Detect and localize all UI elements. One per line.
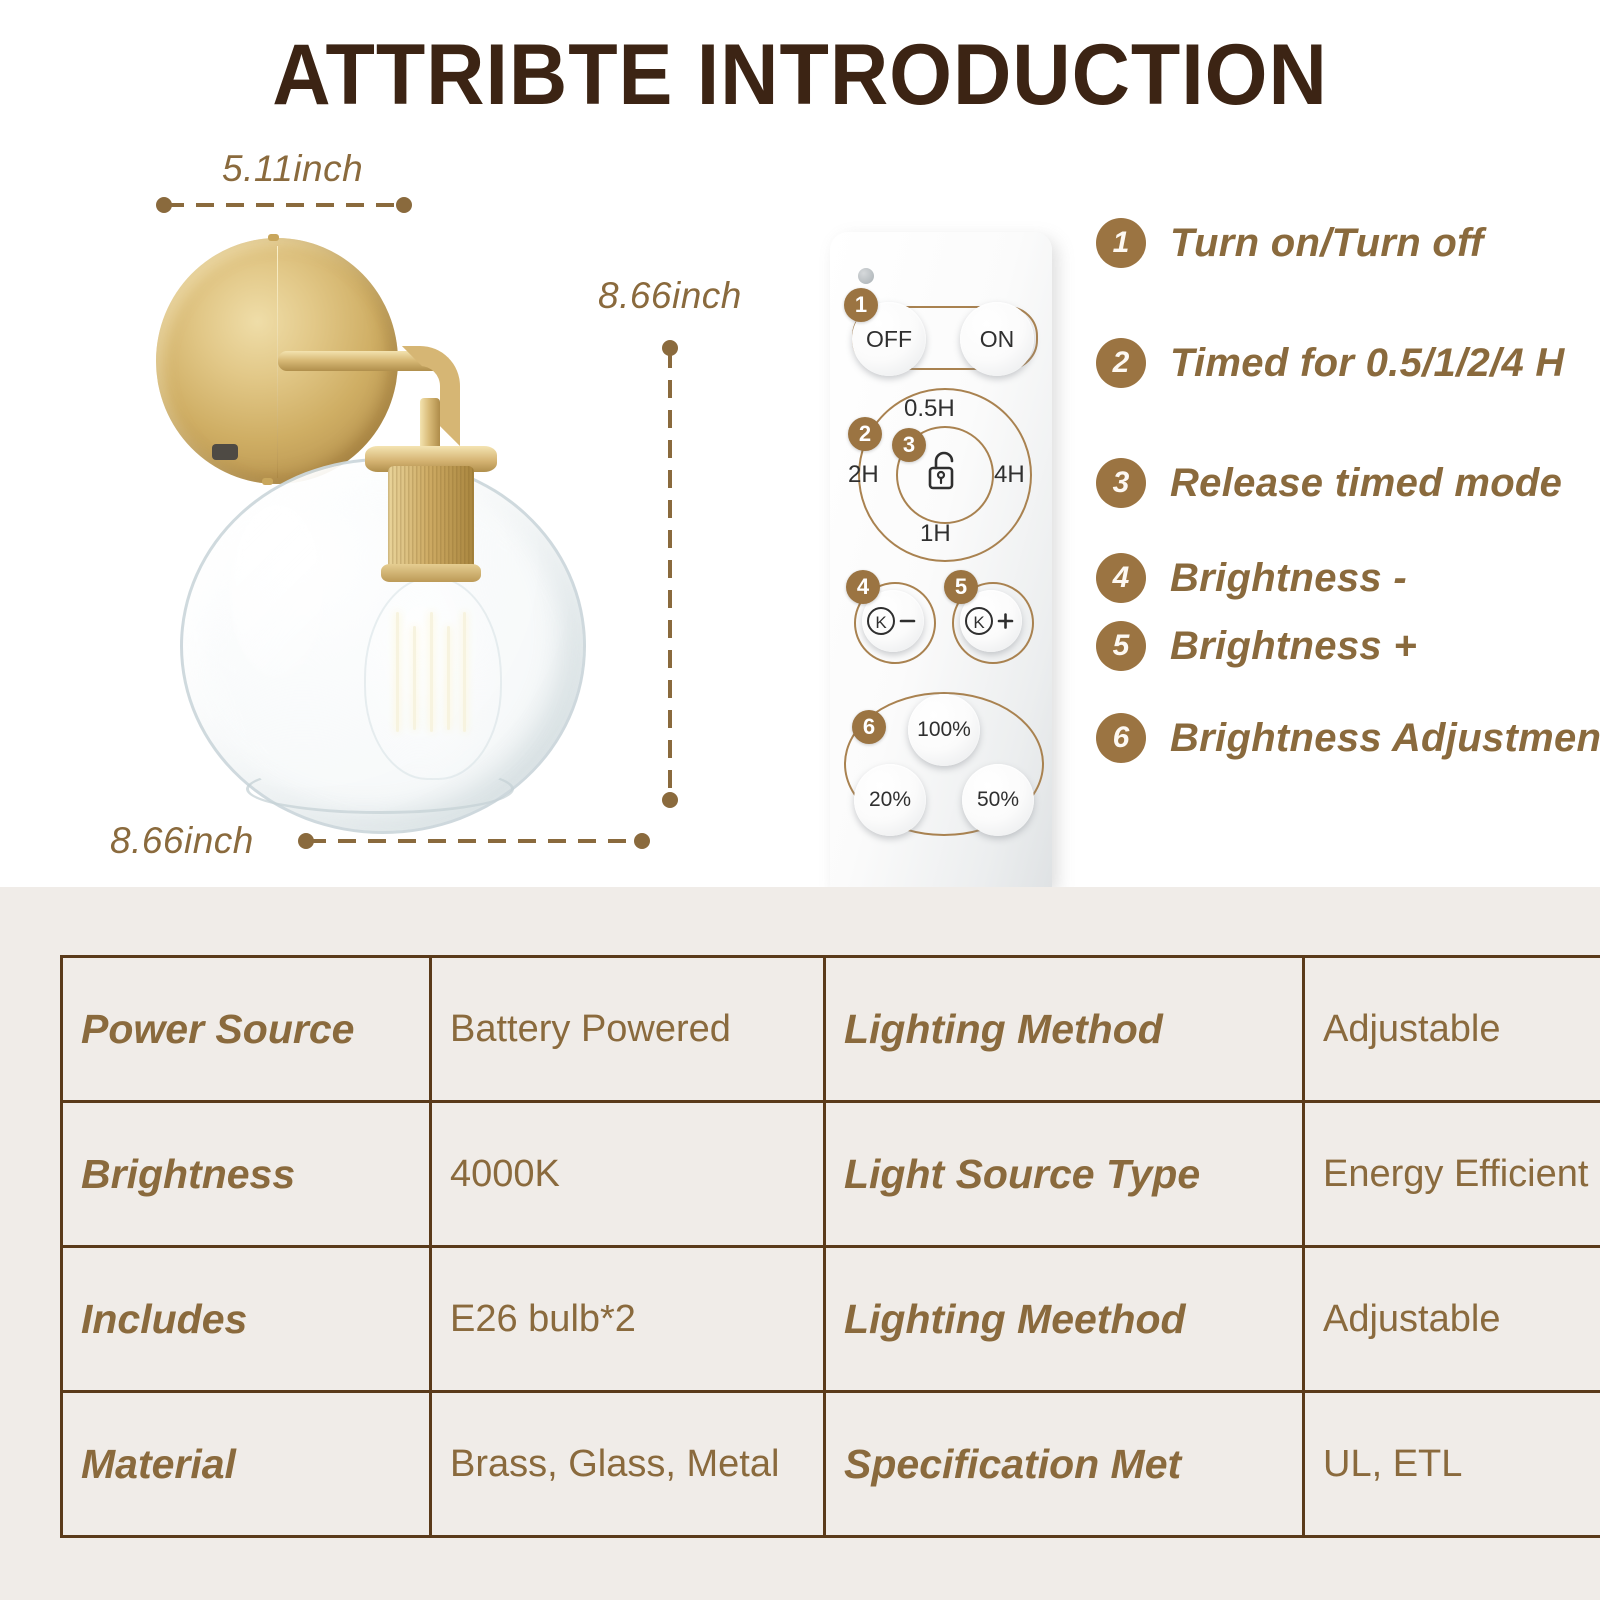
socket-ring	[381, 564, 481, 582]
legend-number-1: 1	[1096, 218, 1146, 268]
spec-value: Adjustable	[1323, 1298, 1600, 1341]
spec-key: Specification Met	[844, 1441, 1284, 1488]
legend-item-1: 1 Turn on/Turn off	[1096, 215, 1484, 271]
spec-key: Light Source Type	[844, 1151, 1284, 1198]
callout-badge-3: 3	[892, 428, 926, 462]
dimension-line-width-bottom	[308, 839, 638, 843]
legend-item-3: 3 Release timed mode	[1096, 455, 1562, 511]
k-minus-icon: K	[865, 606, 921, 636]
svg-text:K: K	[875, 613, 887, 632]
callout-badge-5: 5	[944, 570, 978, 604]
timer-label-2h[interactable]: 2H	[848, 461, 879, 489]
bulb-filament	[447, 626, 450, 730]
callout-badge-2: 2	[848, 417, 882, 451]
globe-highlight	[230, 504, 326, 680]
legend-number-4: 4	[1096, 553, 1146, 603]
knurled-socket	[388, 466, 474, 574]
spec-value: E26 bulb*2	[450, 1298, 805, 1341]
table-row: Brightness 4000K Light Source Type Energ…	[62, 1102, 1600, 1247]
timer-label-half-hour[interactable]: 0.5H	[904, 395, 955, 423]
preset-20-button[interactable]: 20%	[854, 764, 926, 836]
bulb-filament	[396, 612, 399, 732]
callout-badge-6: 6	[852, 710, 886, 744]
remote-control: OFF ON 1 0.5H 2H 4H 1H 2 3 K 4	[830, 232, 1052, 887]
backplate-screw-bottom	[262, 478, 273, 485]
legend-label-5: Brightness +	[1170, 624, 1417, 669]
legend-label-6: Brightness Adjustmen	[1170, 716, 1600, 761]
legend-number-2: 2	[1096, 338, 1146, 388]
legend-number-5: 5	[1096, 621, 1146, 671]
dimension-label-width-bottom: 8.66inch	[110, 820, 254, 862]
top-product-panel: ATTRIBTE INTRODUCTION 5.11inch 8.66inch …	[0, 0, 1600, 887]
callout-badge-1: 1	[844, 288, 878, 322]
spec-value: Battery Powered	[450, 1008, 805, 1051]
spec-value: 4000K	[450, 1153, 805, 1196]
legend-item-2: 2 Timed for 0.5/1/2/4 H	[1096, 335, 1565, 391]
legend-label-4: Brightness -	[1170, 556, 1407, 601]
table-row: Power Source Battery Powered Lighting Me…	[62, 957, 1600, 1102]
spec-key: Material	[81, 1441, 411, 1488]
preset-100-button[interactable]: 100%	[908, 694, 980, 766]
bulb-filament	[463, 612, 466, 732]
legend-label-1: Turn on/Turn off	[1170, 221, 1484, 266]
spec-key: Brightness	[81, 1151, 411, 1198]
specification-table: Power Source Battery Powered Lighting Me…	[60, 955, 1600, 1538]
bulb-filament	[413, 626, 416, 730]
callout-badge-4: 4	[846, 570, 880, 604]
dimension-dot-bottom-right	[634, 833, 650, 849]
table-row: Includes E26 bulb*2 Lighting Meethod Adj…	[62, 1247, 1600, 1392]
legend-number-6: 6	[1096, 713, 1146, 763]
spec-key: Power Source	[81, 1006, 411, 1053]
backplate-switch	[212, 444, 238, 460]
legend-label-3: Release timed mode	[1170, 461, 1562, 506]
dimension-label-width-top: 5.11inch	[222, 148, 363, 190]
globe-base-rim	[246, 764, 514, 814]
timer-label-4h[interactable]: 4H	[994, 461, 1025, 489]
spec-value: Brass, Glass, Metal	[450, 1443, 805, 1486]
dimension-dot-right	[396, 197, 412, 213]
legend-label-2: Timed for 0.5/1/2/4 H	[1170, 341, 1565, 386]
spec-value: UL, ETL	[1323, 1443, 1600, 1486]
spec-key: Lighting Method	[844, 1006, 1284, 1053]
unlock-icon	[926, 448, 962, 494]
timer-label-1h[interactable]: 1H	[920, 520, 951, 548]
specification-panel: Power Source Battery Powered Lighting Me…	[0, 887, 1600, 1600]
spec-value: Energy Efficient	[1323, 1153, 1600, 1196]
legend-item-6: 6 Brightness Adjustmen	[1096, 710, 1600, 766]
legend-item-4: 4 Brightness -	[1096, 550, 1407, 606]
dimension-line-width-top	[166, 203, 400, 207]
ir-led-icon	[858, 268, 874, 284]
led-bulb	[364, 576, 502, 780]
table-row: Material Brass, Glass, Metal Specificati…	[62, 1392, 1600, 1537]
spec-key: Includes	[81, 1296, 411, 1343]
bulb-filament	[430, 612, 433, 732]
k-plus-icon: K	[963, 606, 1019, 636]
on-button[interactable]: ON	[960, 302, 1034, 376]
page-title: ATTRIBTE INTRODUCTION	[48, 26, 1552, 125]
wall-sconce-product-image	[150, 228, 670, 808]
legend-item-5: 5 Brightness +	[1096, 618, 1417, 674]
preset-50-button[interactable]: 50%	[962, 764, 1034, 836]
spec-key: Lighting Meethod	[844, 1296, 1284, 1343]
spec-value: Adjustable	[1323, 1008, 1600, 1051]
legend-number-3: 3	[1096, 458, 1146, 508]
backplate-screw-top	[268, 234, 279, 241]
svg-text:K: K	[973, 613, 985, 632]
